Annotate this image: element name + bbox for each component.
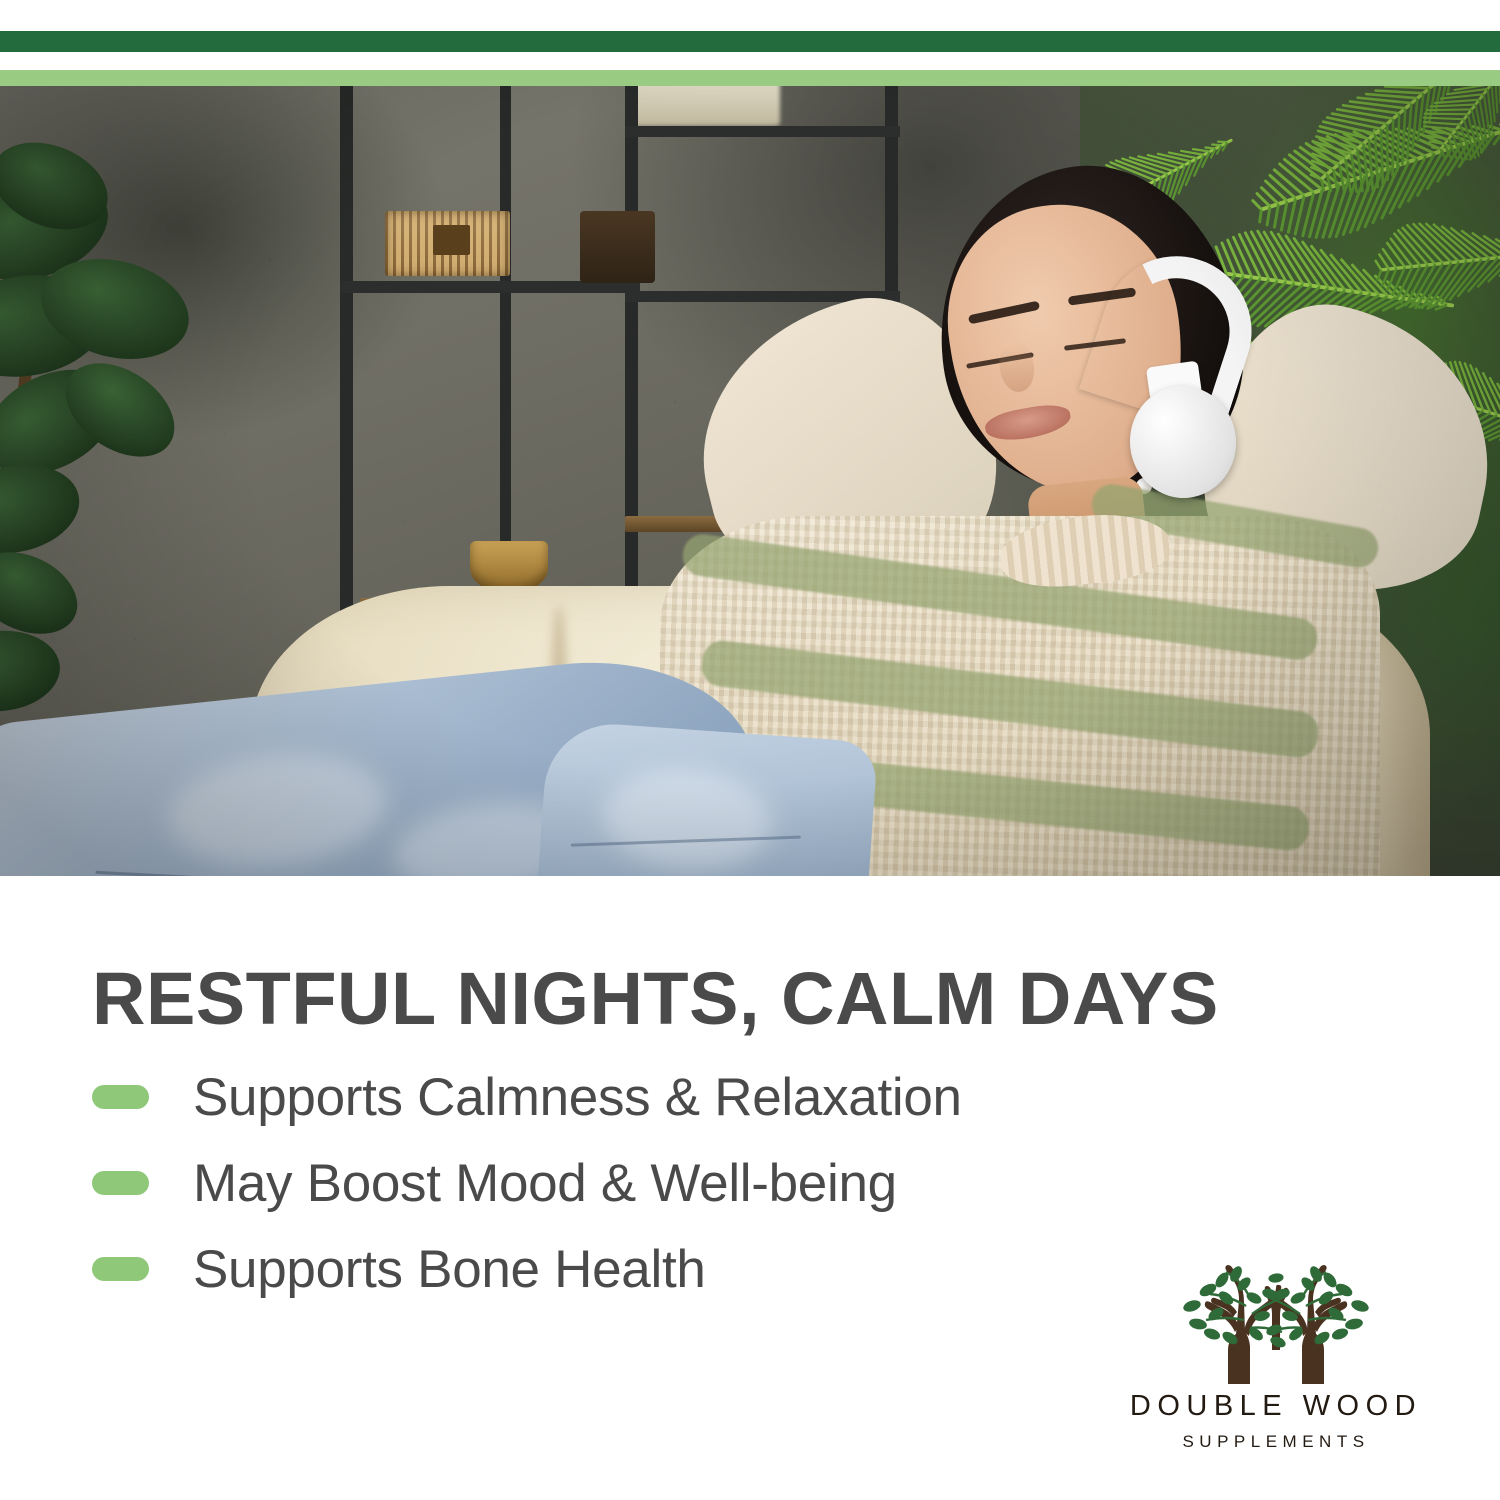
logo-brand-sub: SUPPLEMENTS [1126,1432,1426,1452]
hero-photo [0,86,1500,876]
hero-scene [0,86,1500,876]
bullet-pill-icon [92,1257,149,1281]
jeans-right-leg [532,720,878,876]
logo-brand-name: DOUBLE WOOD [1126,1390,1426,1423]
brand-logo: DOUBLE WOOD SUPPLEMENTS [1126,1254,1426,1452]
benefit-label: May Boost Mood & Well-being [193,1153,897,1214]
list-item: May Boost Mood & Well-being [92,1152,962,1214]
benefit-label: Supports Calmness & Relaxation [193,1067,962,1128]
light-green-stripe [0,70,1500,86]
double-tree-icon [1126,1254,1426,1384]
product-marketing-image: RESTFUL NIGHTS, CALM DAYS Supports Calmn… [0,0,1500,1500]
page-title: RESTFUL NIGHTS, CALM DAYS [92,956,1219,1041]
list-item: Supports Bone Health [92,1238,962,1300]
content-panel: RESTFUL NIGHTS, CALM DAYS Supports Calmn… [0,876,1500,1500]
bullet-pill-icon [92,1085,149,1109]
benefit-label: Supports Bone Health [193,1239,706,1300]
dark-green-stripe [0,31,1500,52]
person [0,86,1500,876]
list-item: Supports Calmness & Relaxation [92,1066,962,1128]
bullet-pill-icon [92,1171,149,1195]
benefits-list: Supports Calmness & Relaxation May Boost… [92,1066,962,1324]
